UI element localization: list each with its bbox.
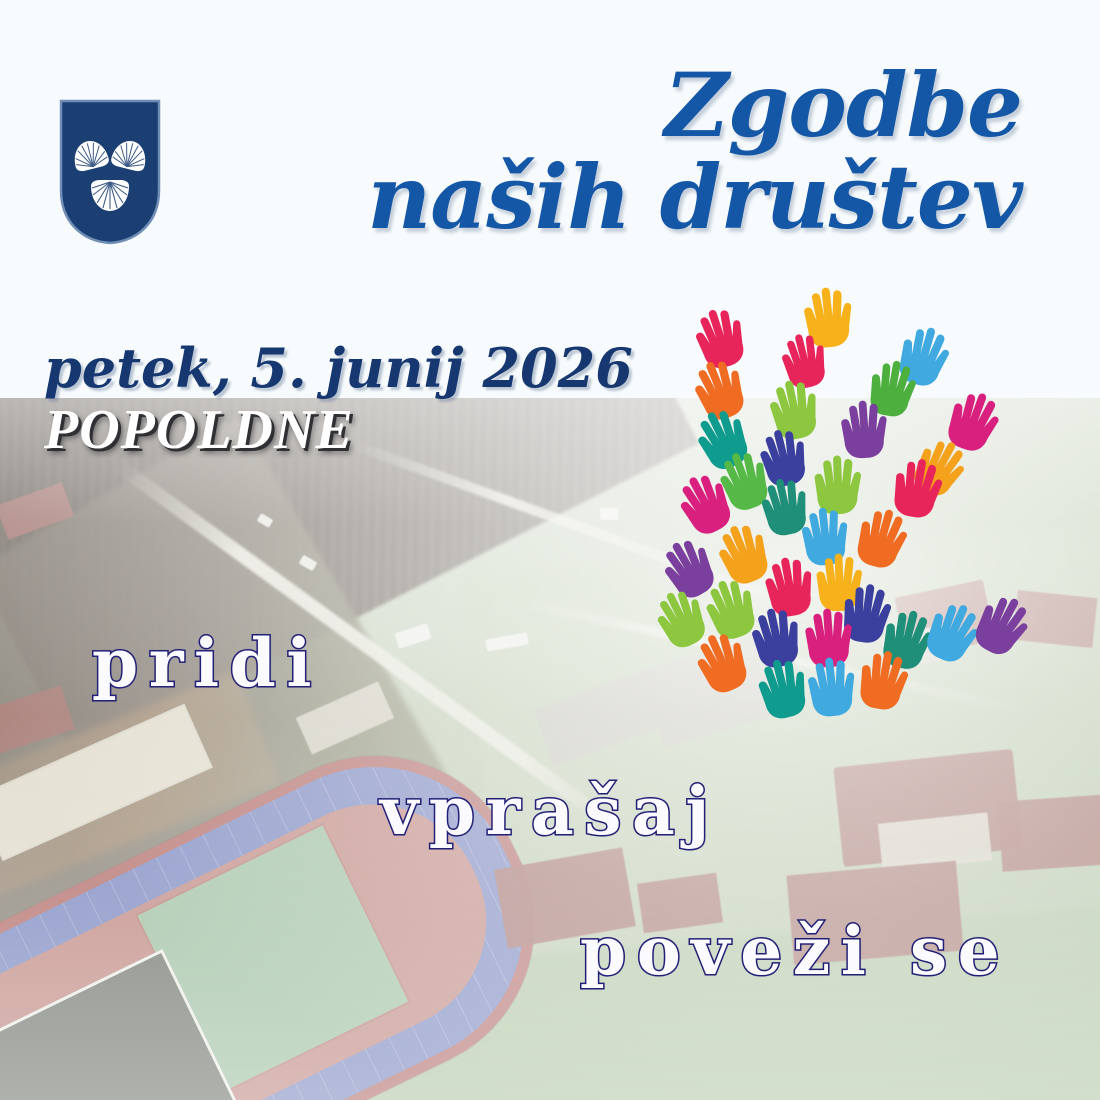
page-title: Zgodbe naših društev	[367, 62, 1022, 240]
cta-vprasaj: vprašaj	[380, 772, 720, 850]
title-line-2: naših društev	[367, 154, 1022, 240]
event-daypart: POPOLDNE	[44, 398, 354, 462]
hand-shape	[814, 455, 862, 515]
hand-shape	[649, 583, 714, 653]
hand-shape	[671, 467, 739, 540]
cta-pridi: pridi	[92, 624, 322, 702]
hand-shape	[968, 588, 1036, 661]
house-roof	[998, 794, 1100, 872]
coat-of-arms	[58, 98, 162, 246]
event-poster: Zgodbe naših društev petek, 5. junij 202…	[0, 0, 1100, 1100]
hand-shape	[806, 655, 858, 718]
field-object	[600, 508, 618, 520]
hand-shape	[711, 518, 776, 590]
colorful-hands-graphic	[640, 275, 1060, 715]
hand-group	[649, 285, 1037, 722]
shield-body	[61, 101, 159, 243]
event-date: petek, 5. junij 2026	[44, 336, 633, 400]
title-line-1: Zgodbe	[367, 62, 1022, 148]
cta-povezi-se: poveži se	[580, 912, 1010, 990]
hand-shape	[800, 505, 851, 567]
